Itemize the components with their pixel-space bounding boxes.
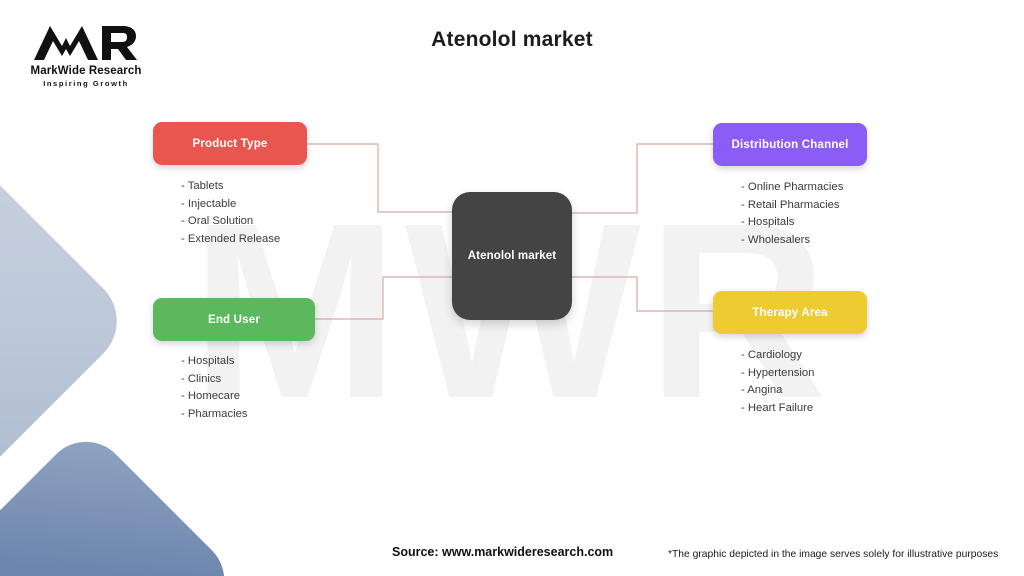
footer-source: Source: www.markwideresearch.com [392,545,613,559]
branch-product-type: Product Type - Tablets - Injectable - Or… [153,122,307,248]
list-item: - Retail Pharmacies [741,197,867,215]
list-item: - Hospitals [741,214,867,232]
branch-items-product-type: - Tablets - Injectable - Oral Solution -… [181,178,307,248]
list-item: - Hospitals [181,353,315,371]
connector-therapy-area [572,277,713,311]
list-item: - Clinics [181,371,315,389]
branch-label-distribution-channel: Distribution Channel [731,139,848,151]
connector-distribution-channel [572,144,713,213]
branch-header-end-user[interactable]: End User [153,298,315,341]
branch-items-end-user: - Hospitals - Clinics - Homecare - Pharm… [181,353,315,423]
branch-label-therapy-area: Therapy Area [752,307,827,319]
branch-distribution-channel: Distribution Channel - Online Pharmacies… [713,123,867,249]
list-item: - Homecare [181,388,315,406]
footer-disclaimer: *The graphic depicted in the image serve… [668,549,998,560]
list-item: - Online Pharmacies [741,179,867,197]
connector-product-type [307,144,452,212]
connector-end-user [315,277,452,319]
branch-end-user: End User - Hospitals - Clinics - Homecar… [153,298,315,423]
branch-header-distribution-channel[interactable]: Distribution Channel [713,123,867,166]
list-item: - Injectable [181,196,307,214]
list-item: - Cardiology [741,347,867,365]
list-item: - Tablets [181,178,307,196]
center-node[interactable]: Atenolol market [452,192,572,320]
list-item: - Oral Solution [181,213,307,231]
list-item: - Angina [741,382,867,400]
branch-header-therapy-area[interactable]: Therapy Area [713,291,867,334]
list-item: - Wholesalers [741,232,867,250]
branch-items-distribution-channel: - Online Pharmacies - Retail Pharmacies … [741,179,867,249]
list-item: - Pharmacies [181,406,315,424]
list-item: - Extended Release [181,231,307,249]
infographic-canvas: MWR MarkWide Research Inspiring Growth A… [0,0,1024,576]
branch-therapy-area: Therapy Area - Cardiology - Hypertension… [713,291,867,417]
center-node-label: Atenolol market [468,250,556,262]
branch-items-therapy-area: - Cardiology - Hypertension - Angina - H… [741,347,867,417]
branch-label-end-user: End User [208,314,260,326]
branch-label-product-type: Product Type [192,138,267,150]
list-item: - Hypertension [741,365,867,383]
branch-header-product-type[interactable]: Product Type [153,122,307,165]
list-item: - Heart Failure [741,400,867,418]
